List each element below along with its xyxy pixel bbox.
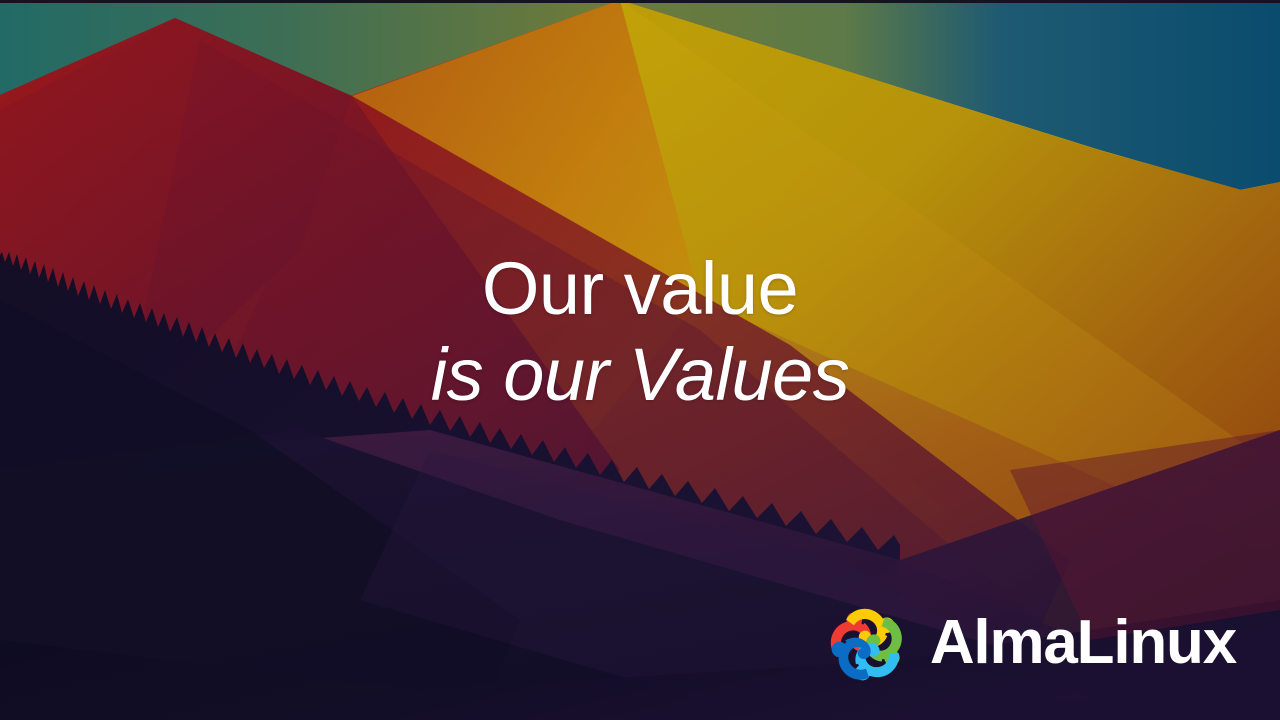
almalinux-pinwheel-icon [820,598,914,692]
presentation-slide: Our value is our Values [0,0,1280,720]
title-line-secondary-italic: is our Values [0,332,1280,418]
slide-title: Our value is our Values [0,246,1280,418]
almalinux-logo-lockup: AlmaLinux [820,598,1236,692]
top-edge-bar [0,0,1280,3]
title-line-primary: Our value [0,246,1280,332]
almalinux-wordmark: AlmaLinux [930,612,1236,678]
